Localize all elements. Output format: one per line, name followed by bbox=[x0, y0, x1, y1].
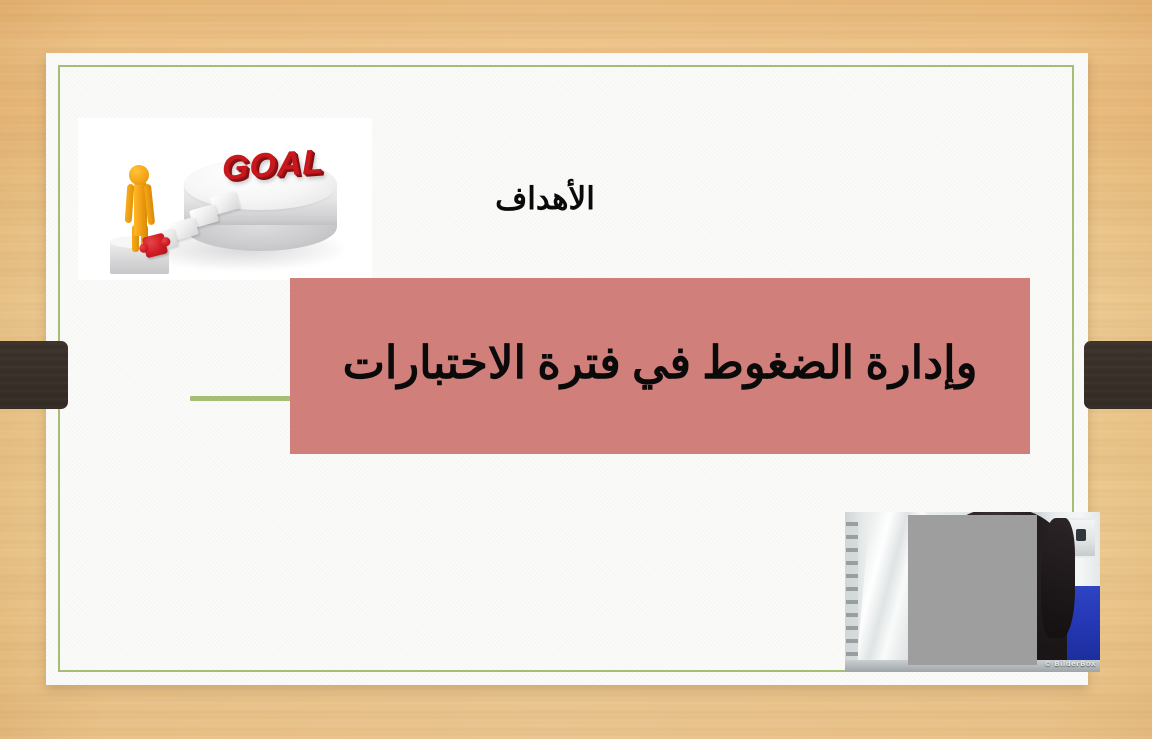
radiator bbox=[846, 522, 858, 662]
body-text: وإدارة الضغوط في فترة الاختبارات bbox=[290, 336, 1030, 397]
dark-tab-right bbox=[1084, 341, 1152, 409]
green-accent-line bbox=[190, 396, 292, 401]
figure-head bbox=[129, 165, 149, 185]
goal-word-text: GOAL bbox=[222, 142, 325, 188]
person-hair bbox=[1041, 518, 1075, 638]
slide-title: الأهداف bbox=[430, 180, 660, 217]
goal-clipart: GOAL bbox=[78, 118, 372, 280]
dark-tab-left bbox=[0, 341, 68, 409]
photo-watermark: © BilderBox bbox=[1044, 660, 1096, 668]
presentation-slide: GOAL الأهداف وإدارة الضغوط في فترة الاخت… bbox=[0, 0, 1152, 739]
gray-censor-box bbox=[908, 515, 1037, 665]
body-text-block: وإدارة الضغوط في فترة الاختبارات bbox=[290, 278, 1030, 454]
